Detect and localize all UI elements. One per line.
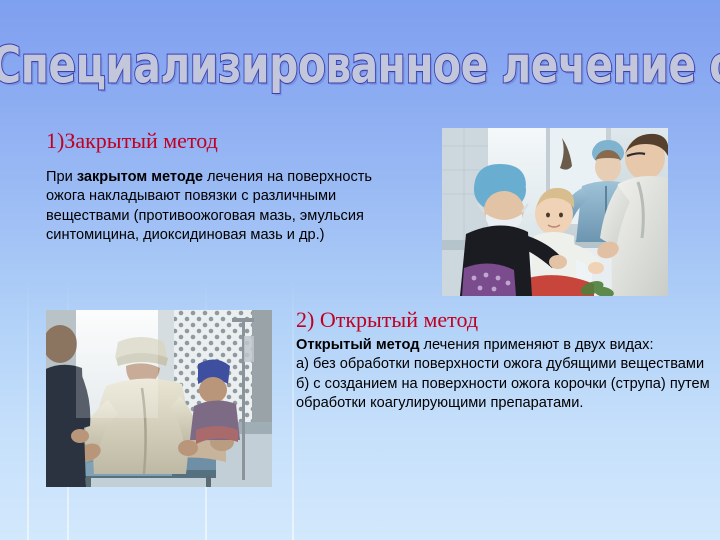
body-lead-text: При	[46, 169, 77, 185]
hospital-ward-burn-patient-photo	[46, 310, 272, 487]
section-body-open-method: Открытый метод лечения применяют в двух …	[296, 336, 710, 355]
slide-title: Специализированное лечение ожогов	[0, 46, 720, 86]
slide-canvas: Специализированное лечение ожогов 1)Закр…	[0, 0, 720, 540]
body-rest-text: лечения применяют в двух видах:	[419, 337, 653, 353]
section-body-open-method-item-b: б) с созданием на поверхности ожога коро…	[296, 375, 710, 414]
section-open-method: 2) Открытый метод Открытый метод лечения…	[296, 307, 710, 414]
section-body-closed-method: При закрытом методе лечения на поверхнос…	[46, 168, 414, 246]
hospital-child-treatment-photo	[442, 128, 668, 296]
body-bold-term: закрытом методе	[77, 169, 203, 185]
section-body-open-method-item-a: а) без обработки поверхности ожога дубящ…	[296, 355, 710, 374]
section-heading-closed-method: 1)Закрытый метод	[46, 128, 414, 154]
body-bold-term: Открытый метод	[296, 337, 419, 353]
slide-title-text: Специализированное лечение ожогов	[0, 40, 720, 91]
section-closed-method: 1)Закрытый метод При закрытом методе леч…	[46, 128, 414, 246]
section-heading-open-method: 2) Открытый метод	[296, 307, 710, 333]
